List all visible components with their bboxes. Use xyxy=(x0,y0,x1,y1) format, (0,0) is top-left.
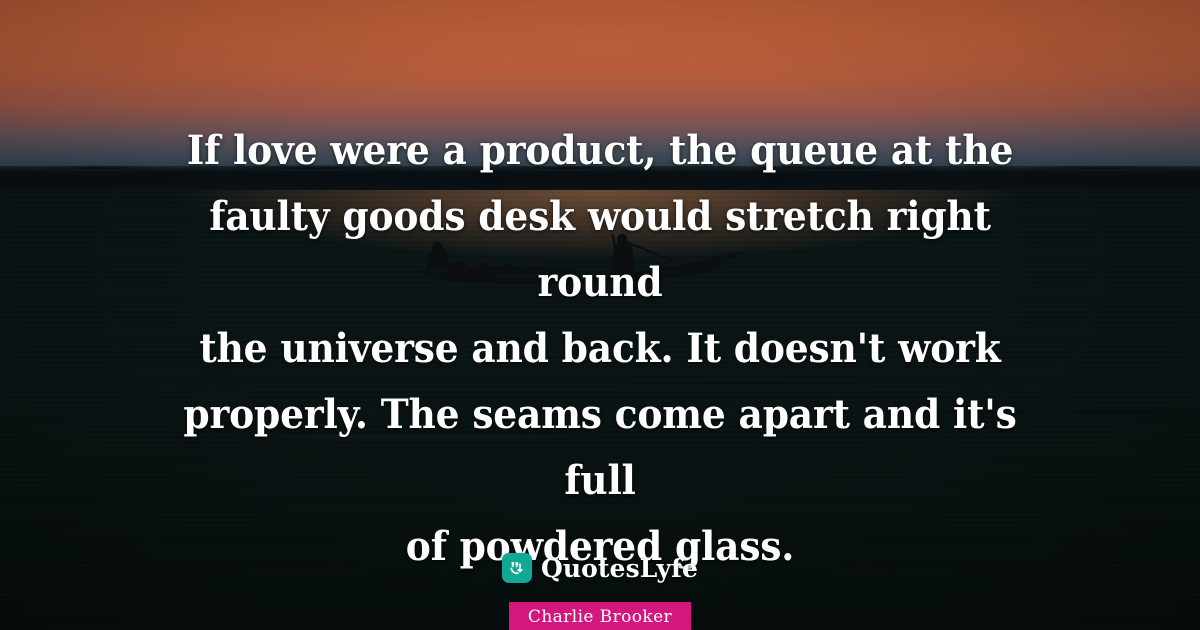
brand-name: QuotesLyfe xyxy=(541,554,698,583)
quote-line: the universe and back. It doesn't work xyxy=(199,325,1000,372)
quote-smiley-icon xyxy=(502,553,532,583)
quote-line: faulty goods desk would stretch right ro… xyxy=(209,193,991,306)
author-name-badge[interactable]: Charlie Brooker xyxy=(509,602,691,630)
brand-logo[interactable]: QuotesLyfe xyxy=(0,553,1200,583)
quote-line: properly. The seams come apart and it's … xyxy=(183,391,1016,504)
author-badge-wrapper: Charlie Brooker xyxy=(509,602,691,630)
quote-text: If love were a product, the queue at the… xyxy=(177,118,1023,580)
card-content: If love were a product, the queue at the… xyxy=(0,0,1200,630)
quote-line: If love were a product, the queue at the xyxy=(187,127,1013,174)
quote-card: If love were a product, the queue at the… xyxy=(0,0,1200,630)
